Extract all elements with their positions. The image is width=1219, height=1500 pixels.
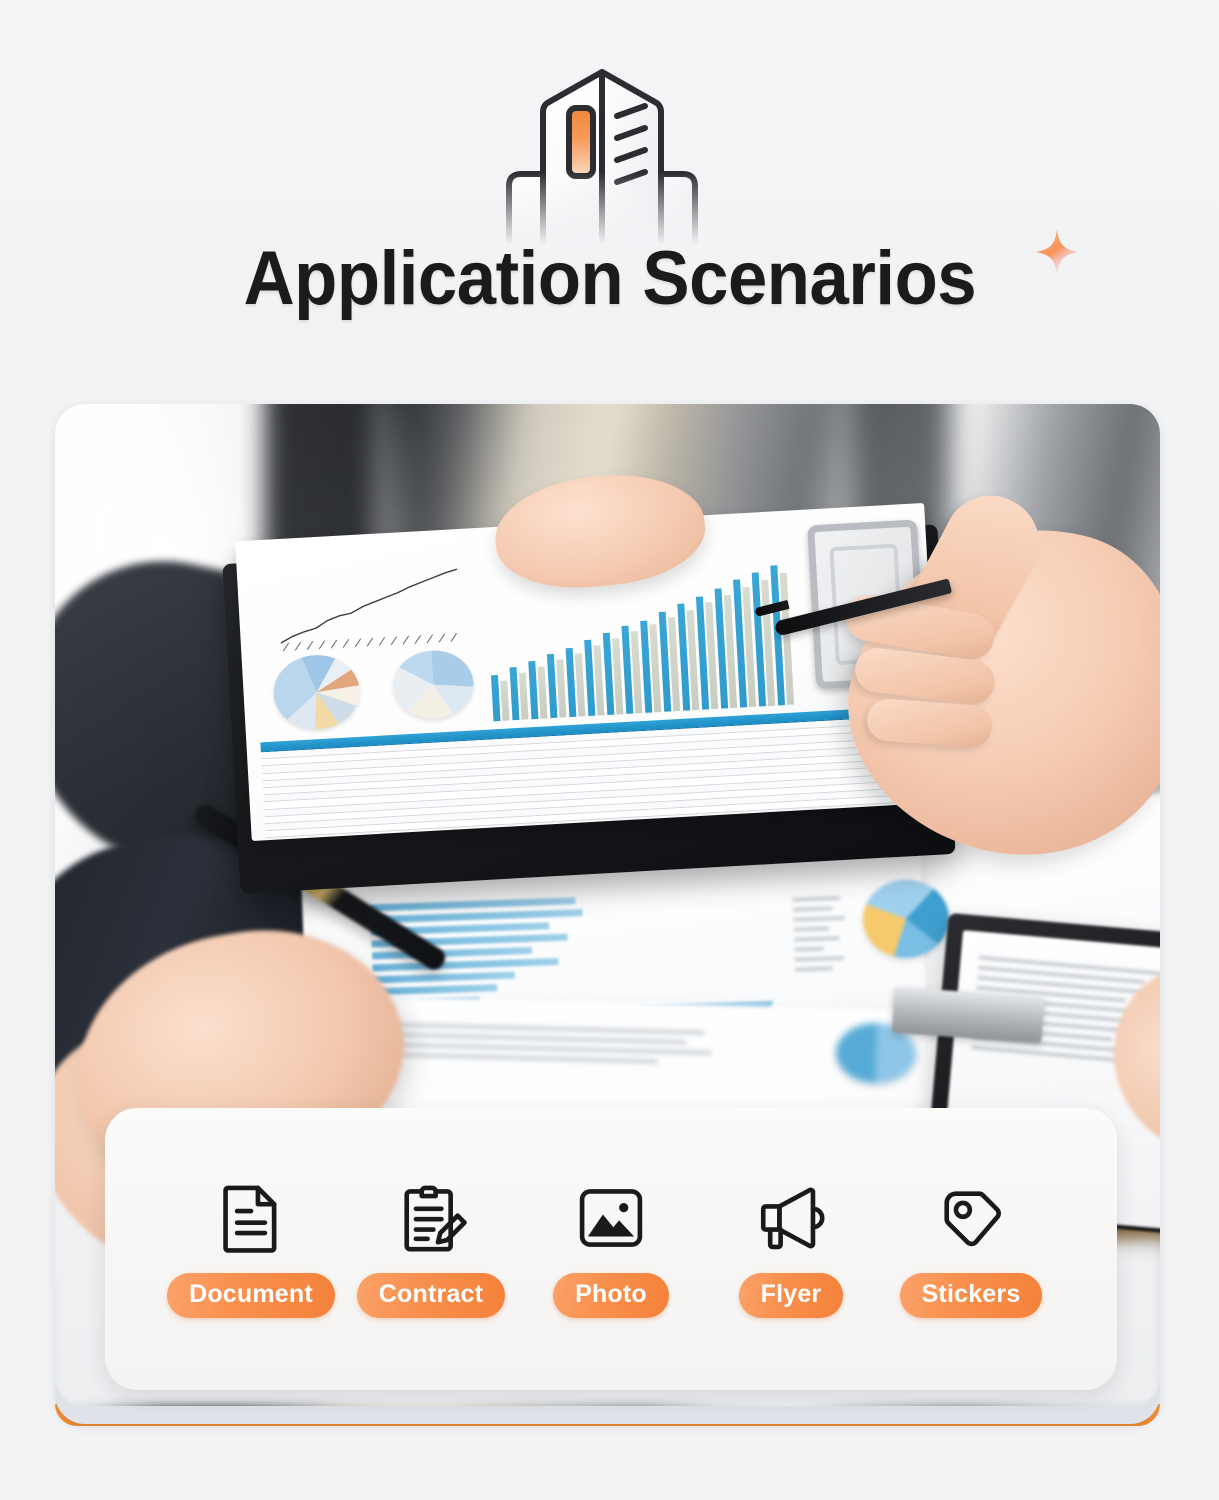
feature-flyer[interactable]: Flyer xyxy=(701,1181,881,1318)
feature-label-document: Document xyxy=(167,1273,335,1318)
feature-photo[interactable]: Photo xyxy=(521,1181,701,1318)
sheet-text-block xyxy=(394,1023,725,1066)
chart-axis-labels xyxy=(792,896,849,972)
feature-label-stickers: Stickers xyxy=(900,1273,1043,1318)
contract-clipboard-pen-icon xyxy=(394,1181,468,1255)
feature-label-contract: Contract xyxy=(357,1273,505,1318)
pie-chart-1 xyxy=(272,653,362,732)
page-header: Application Scenarios xyxy=(0,0,1219,390)
feature-contract[interactable]: Contract xyxy=(341,1181,521,1318)
feature-label-photo: Photo xyxy=(553,1273,669,1318)
feature-document[interactable]: Document xyxy=(161,1181,341,1318)
feature-stickers[interactable]: Stickers xyxy=(881,1181,1061,1318)
page-title: Application Scenarios xyxy=(243,236,976,322)
megaphone-icon xyxy=(754,1181,828,1255)
polygon-chart xyxy=(620,888,775,995)
photo-image-icon xyxy=(574,1181,648,1255)
scenario-feature-card: Document Contract Photo xyxy=(105,1108,1117,1390)
finger-ring xyxy=(866,698,994,749)
pie-chart-2 xyxy=(392,648,476,720)
feature-label-flyer: Flyer xyxy=(739,1273,844,1318)
office-building-icon xyxy=(487,62,717,252)
line-chart xyxy=(271,562,485,654)
price-tag-icon xyxy=(934,1181,1008,1255)
document-icon xyxy=(214,1181,288,1255)
sparkle-icon xyxy=(1035,228,1079,276)
